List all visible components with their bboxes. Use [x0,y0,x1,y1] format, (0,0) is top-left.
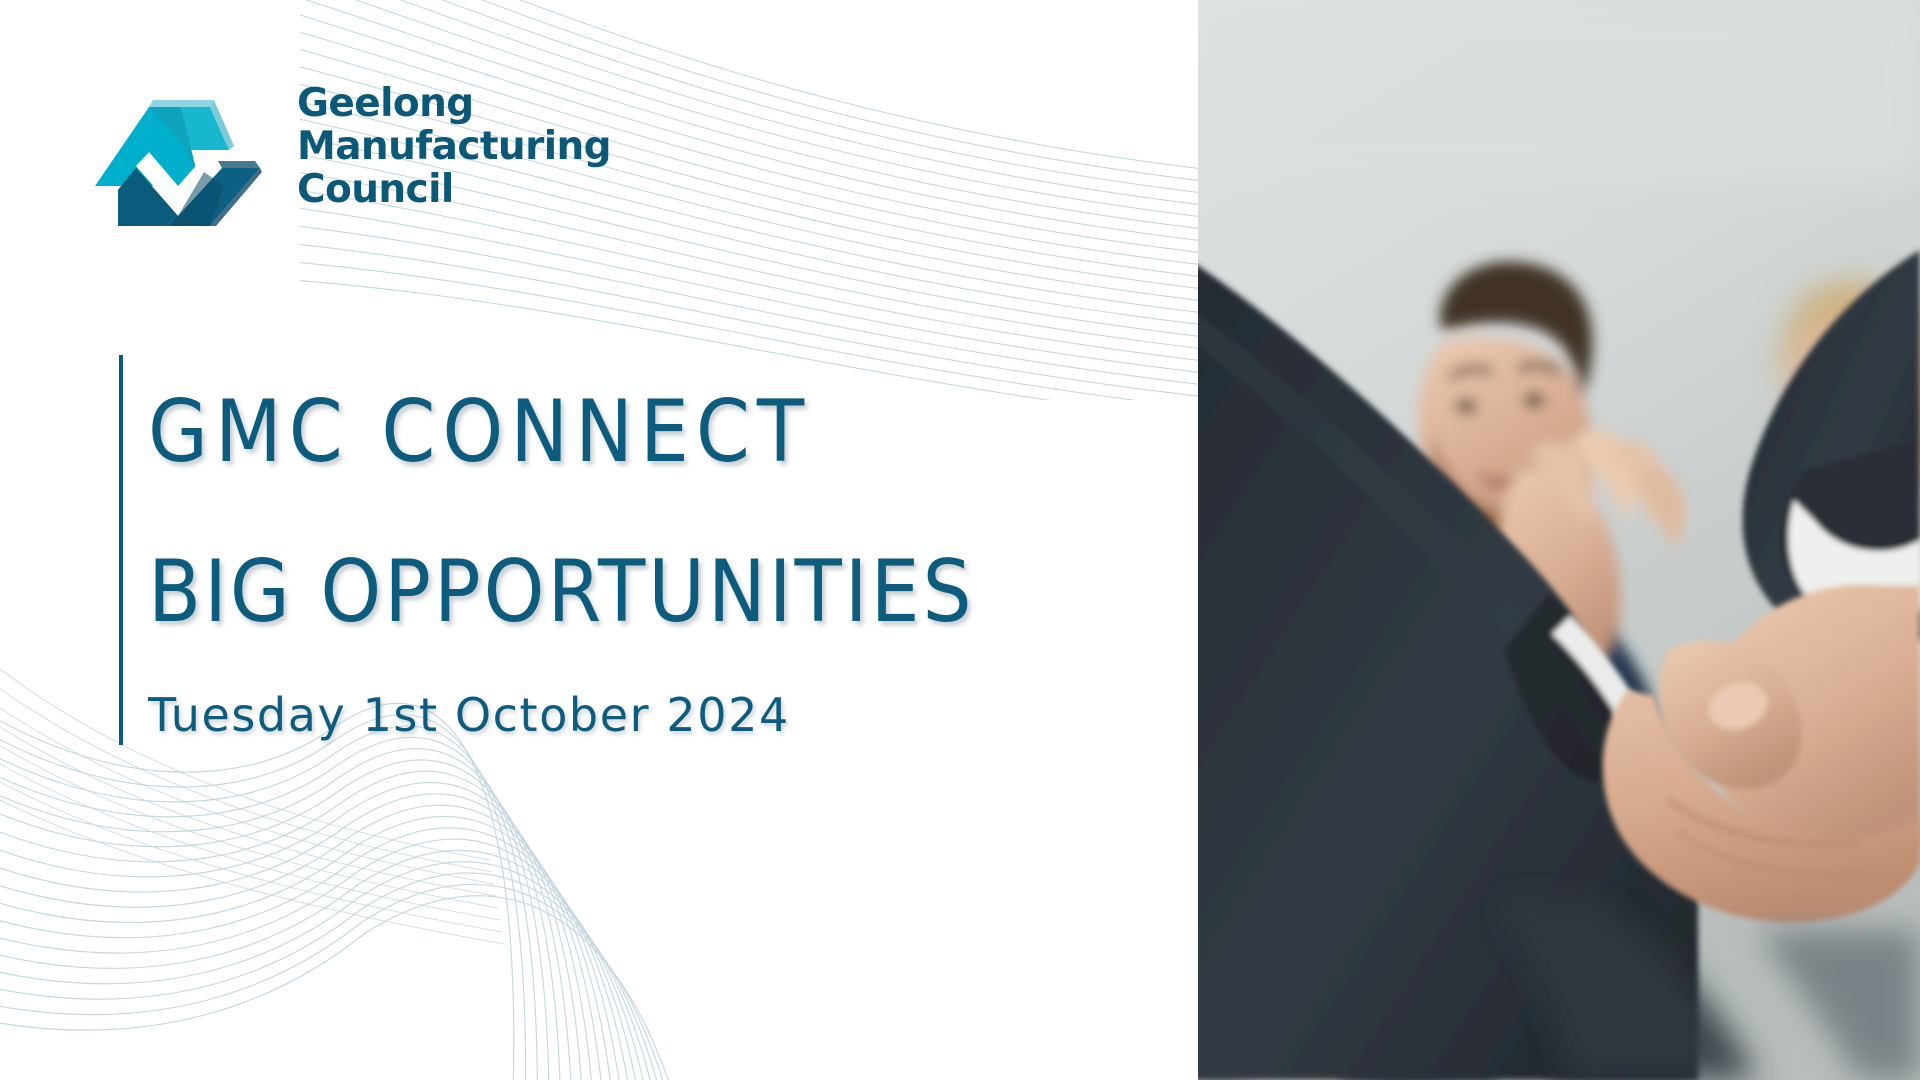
hero-headline: GMC CONNECT BIG OPPORTUNITIES [148,352,1158,672]
logo-word-2: Manufacturing [297,125,697,168]
headline-line-1: GMC CONNECT [148,352,1158,512]
logo-word-3: Council [297,168,697,211]
hero-photo-illustration [1198,0,1920,1080]
gmc-logo-wordmark: Geelong Manufacturing Council [297,82,697,211]
gmc-logo: Geelong Manufacturing Council [92,86,692,236]
headline-line-2: BIG OPPORTUNITIES [148,512,1158,672]
hero-photo [1198,0,1920,1080]
poster-canvas: Geelong Manufacturing Council GMC CONNEC… [0,0,1920,1080]
vertical-accent-bar [119,355,123,745]
gmc-chevron-logo-mark-icon [92,94,262,226]
event-date: Tuesday 1st October 2024 [148,688,790,742]
logo-word-1: Geelong [297,82,697,125]
